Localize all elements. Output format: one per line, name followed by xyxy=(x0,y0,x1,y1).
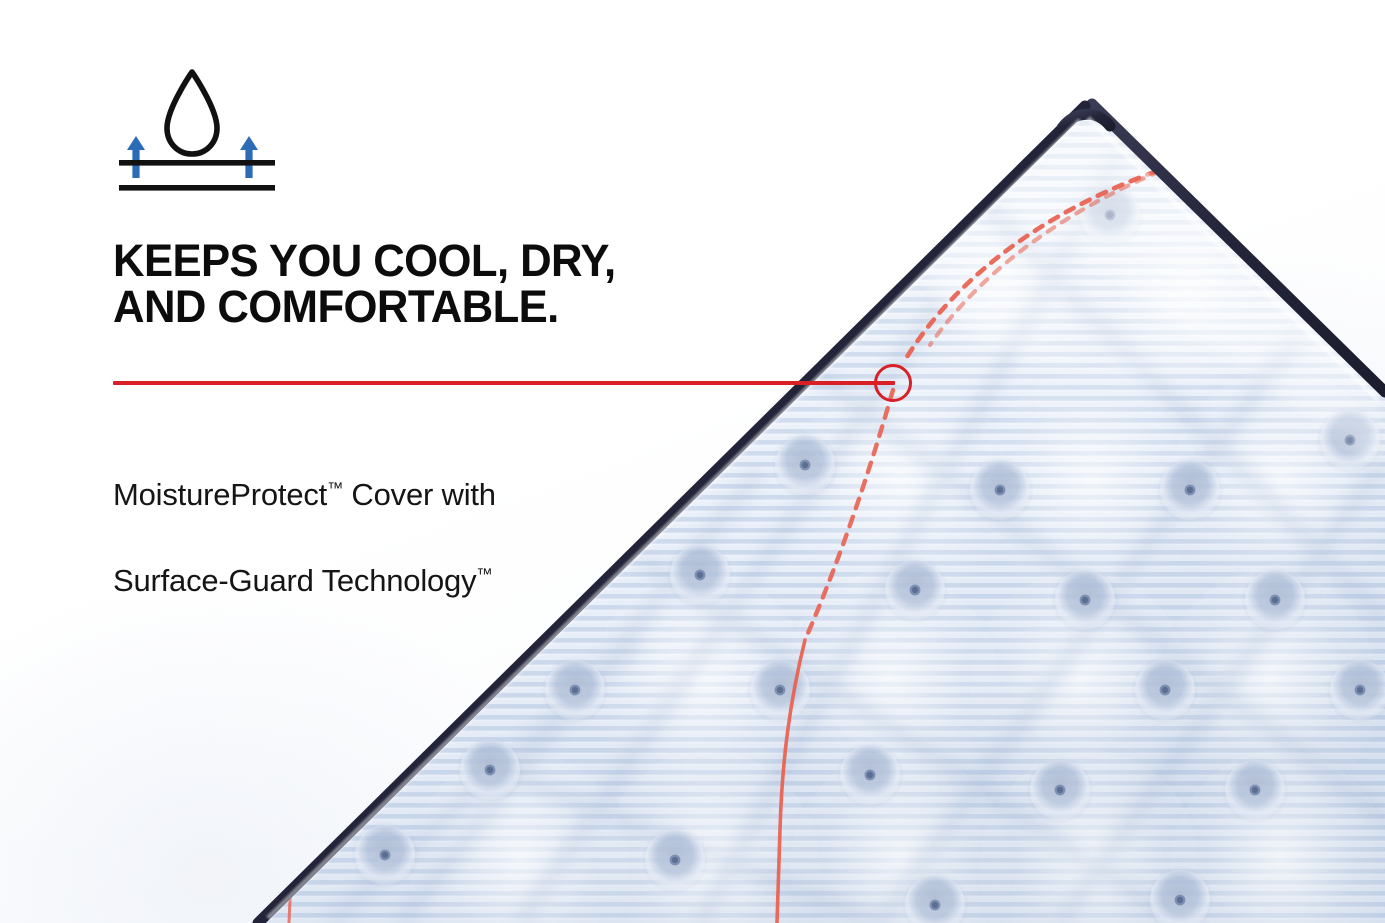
callout-leader-line xyxy=(113,381,903,386)
description-line-2: Surface-Guard Technology™ xyxy=(113,563,492,598)
feature-text-panel: KEEPS YOU COOL, DRY, AND COMFORTABLE. xyxy=(113,56,793,330)
up-arrow-left xyxy=(127,136,145,178)
surface-line-upper xyxy=(119,160,275,166)
trademark-symbol-1: ™ xyxy=(327,480,343,498)
trademark-symbol-2: ™ xyxy=(476,566,492,584)
page-title: KEEPS YOU COOL, DRY, AND COMFORTABLE. xyxy=(113,238,714,330)
description-line-1: MoistureProtect™ Cover with xyxy=(113,477,496,512)
water-droplet-icon xyxy=(167,72,217,154)
surface-line-lower xyxy=(119,185,275,191)
up-arrow-right xyxy=(240,136,258,178)
feature-description: MoistureProtect™ Cover with Surface-Guar… xyxy=(113,430,733,602)
feature-callout-marker[interactable] xyxy=(874,364,912,402)
feature-callout-page: KEEPS YOU COOL, DRY, AND COMFORTABLE. Mo… xyxy=(0,0,1385,923)
moisture-wicking-icon xyxy=(113,56,283,196)
leader-line-stroke xyxy=(113,381,895,385)
